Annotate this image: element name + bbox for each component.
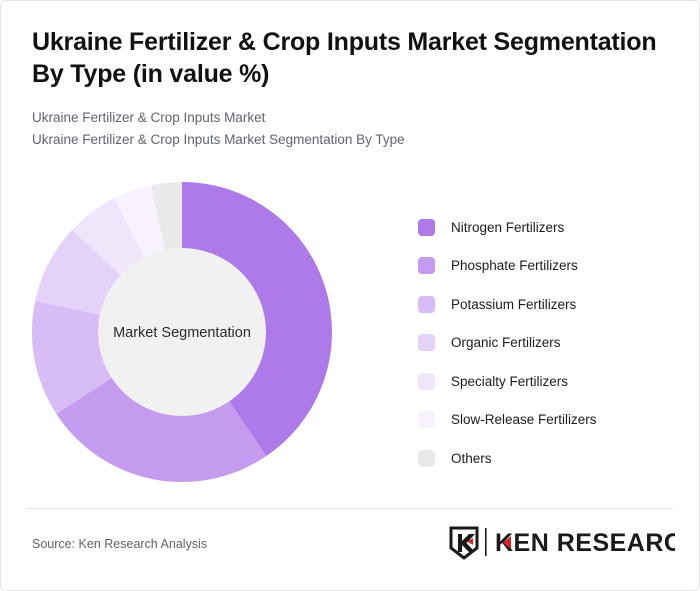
chart-legend: Nitrogen Fertilizers Phosphate Fertilize… [418,208,678,478]
legend-item-label: Organic Fertilizers [451,335,561,350]
donut-chart: Market Segmentation [32,182,332,482]
legend-item[interactable]: Phosphate Fertilizers [418,247,678,286]
legend-item[interactable]: Others [418,439,678,478]
logo-wordmark-text: KEN RESEARCH [495,529,675,557]
donut-center-label: Market Segmentation [113,325,251,341]
ken-research-logo: KEN RESEARCH [447,524,675,560]
subtitle-segmentation-name: Ukraine Fertilizer & Crop Inputs Market … [32,129,672,151]
legend-item[interactable]: Nitrogen Fertilizers [418,208,678,247]
footer-divider [27,508,673,509]
legend-color-swatch-icon [418,257,435,274]
legend-color-swatch-icon [418,296,435,313]
logo-k-mark-icon [451,528,477,558]
legend-item-label: Specialty Fertilizers [451,374,568,389]
logo-wordmark: KEN RESEARCH [495,529,675,557]
legend-item-label: Phosphate Fertilizers [451,258,578,273]
legend-item-label: Nitrogen Fertilizers [451,220,564,235]
legend-item-label: Potassium Fertilizers [451,297,576,312]
legend-color-swatch-icon [418,450,435,467]
legend-color-swatch-icon [418,334,435,351]
legend-color-swatch-icon [418,373,435,390]
legend-color-swatch-icon [418,219,435,236]
page-title: Ukraine Fertilizer & Crop Inputs Market … [32,26,672,90]
chart-area: Market Segmentation Nitrogen Fertilizers… [0,160,700,500]
chart-header: Ukraine Fertilizer & Crop Inputs Market … [32,26,672,150]
subtitle-market-name: Ukraine Fertilizer & Crop Inputs Market [32,107,672,129]
legend-item[interactable]: Specialty Fertilizers [418,362,678,401]
logo-divider [485,528,487,556]
legend-item[interactable]: Slow-Release Fertilizers [418,401,678,440]
donut-chart-svg: Market Segmentation [32,182,332,482]
legend-color-swatch-icon [418,411,435,428]
legend-item[interactable]: Potassium Fertilizers [418,285,678,324]
source-note: Source: Ken Research Analysis [32,537,207,551]
legend-item-label: Slow-Release Fertilizers [451,412,597,427]
subtitle-group: Ukraine Fertilizer & Crop Inputs Market … [32,107,672,150]
legend-item[interactable]: Organic Fertilizers [418,324,678,363]
chart-page: Ukraine Fertilizer & Crop Inputs Market … [0,0,700,591]
legend-item-label: Others [451,451,492,466]
